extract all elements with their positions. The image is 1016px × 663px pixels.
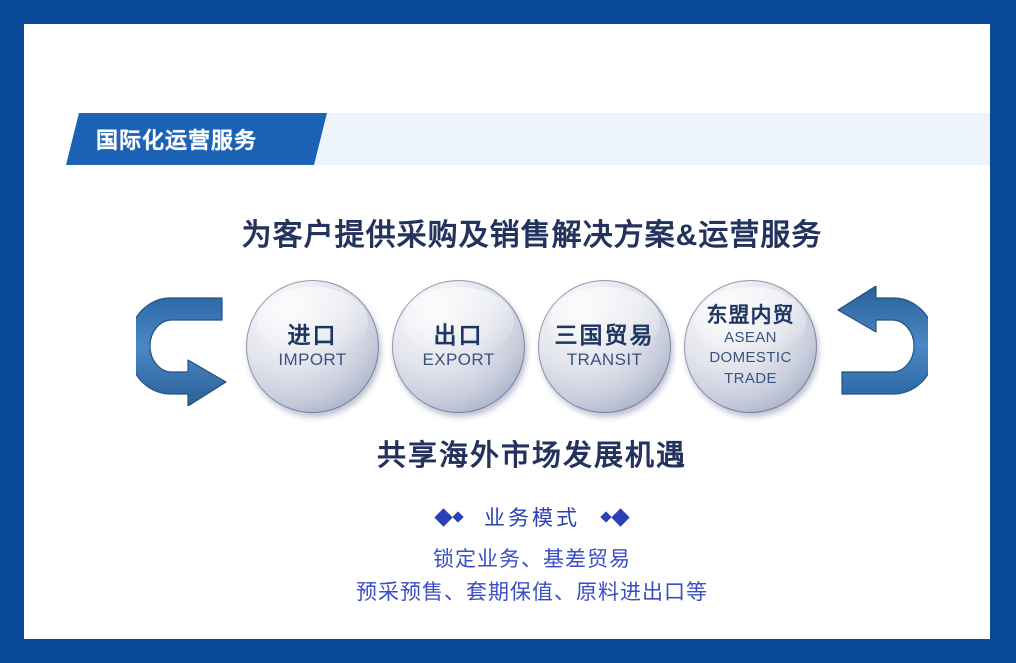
diamond-group-right (602, 511, 627, 524)
circle-label-cn: 出口 (434, 322, 484, 348)
circle-label-cn: 东盟内贸 (707, 304, 795, 328)
diamond-icon (434, 508, 452, 526)
circle-label-en-line2: DOMESTIC (709, 348, 791, 368)
diamond-icon (452, 511, 463, 522)
curved-arrow-right-icon (832, 286, 928, 406)
diamond-group-left (437, 511, 462, 524)
circle-label-en-line3: TRADE (724, 369, 777, 389)
circle-label-en: TRANSIT (567, 349, 643, 371)
slide-card: 国际化运营服务 为客户提供采购及销售解决方案&运营服务 (24, 24, 990, 639)
circle-label-en-line1: ASEAN (724, 328, 777, 348)
subheadline: 共享海外市场发展机遇 (24, 432, 990, 474)
circle-import[interactable]: 进口 IMPORT (246, 280, 379, 413)
circle-label-en: IMPORT (278, 349, 346, 371)
circle-label-cn: 进口 (288, 322, 338, 348)
headline: 为客户提供采购及销售解决方案&运营服务 (24, 210, 990, 254)
circle-export[interactable]: 出口 EXPORT (392, 280, 525, 413)
page-title: 国际化运营服务 (96, 113, 326, 165)
circle-label-cn: 三国贸易 (555, 322, 655, 348)
slide-root: 国际化运营服务 为客户提供采购及销售解决方案&运营服务 (0, 0, 1016, 663)
business-mode-heading: 业务模式 (24, 502, 990, 532)
diamond-icon (611, 508, 629, 526)
business-mode-label: 业务模式 (484, 502, 580, 532)
circle-asean-domestic-trade[interactable]: 东盟内贸 ASEAN DOMESTIC TRADE (684, 280, 817, 413)
business-mode-line: 预采预售、套期保值、原料进出口等 (24, 577, 990, 610)
business-mode-lines: 锁定业务、基差贸易 预采预售、套期保值、原料进出口等 (24, 544, 990, 609)
circle-transit[interactable]: 三国贸易 TRANSIT (538, 280, 671, 413)
business-mode-line: 锁定业务、基差贸易 (24, 544, 990, 577)
circle-label-en: EXPORT (423, 349, 495, 371)
